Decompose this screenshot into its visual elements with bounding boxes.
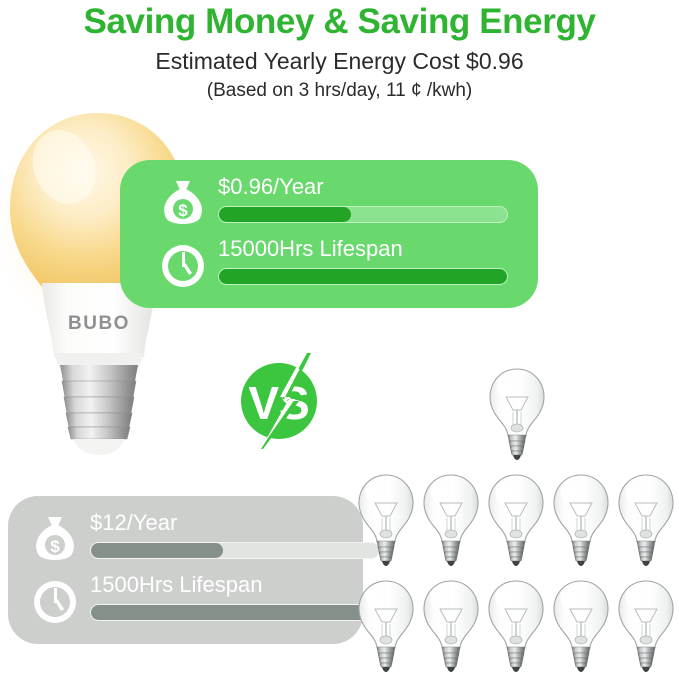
money-bag-icon: $	[30, 514, 80, 566]
infographic-canvas: Saving Money & Saving Energy Estimated Y…	[0, 0, 679, 679]
incandescent-bulb-icon	[421, 472, 481, 568]
incandescent-lifespan-label: 1500Hrs Lifespan	[90, 572, 262, 598]
incandescent-cost-metric: $ $12/Year	[30, 510, 392, 572]
led-lifespan-bar	[218, 268, 508, 285]
led-cost-bar-fill	[219, 207, 351, 222]
incandescent-bulb-icon	[616, 578, 676, 674]
svg-text:$: $	[50, 537, 60, 556]
incandescent-bulb-icon	[421, 578, 481, 674]
incandescent-bulb-icon	[487, 366, 547, 462]
incandescent-cost-label: $12/Year	[90, 510, 177, 536]
incandescent-bulb-icon	[551, 578, 611, 674]
incandescent-lifespan-bar-fill	[91, 605, 379, 620]
led-cost-bar	[218, 206, 508, 223]
incandescent-bulb-icon	[616, 472, 676, 568]
svg-text:$: $	[178, 201, 188, 220]
vs-badge: VS	[233, 353, 329, 449]
incandescent-lifespan-bar	[90, 604, 380, 621]
incandescent-bulb-icon	[356, 578, 416, 674]
led-lifespan-bar-fill	[219, 269, 507, 284]
money-bag-icon: $	[158, 178, 208, 230]
led-cost-metric: $ $0.96/Year	[158, 174, 520, 236]
subtitle-energy-cost: Estimated Yearly Energy Cost $0.96	[0, 48, 679, 75]
led-lifespan-metric: 15000Hrs Lifespan	[158, 236, 520, 298]
led-cost-label: $0.96/Year	[218, 174, 324, 200]
incandescent-bulb-icon	[356, 472, 416, 568]
incandescent-cost-bar-fill	[91, 543, 223, 558]
incandescent-bulb-icon	[551, 472, 611, 568]
led-benefits-panel: $ $0.96/Year 15000Hrs Lifespan	[120, 160, 538, 308]
led-lifespan-label: 15000Hrs Lifespan	[218, 236, 403, 262]
incandescent-bulb-icon	[486, 472, 546, 568]
incandescent-bulb-icon	[486, 578, 546, 674]
incandescent-cost-bar	[90, 542, 380, 559]
incandescent-lifespan-metric: 1500Hrs Lifespan	[30, 572, 392, 634]
bulb-brand-label: BUBO	[68, 313, 130, 334]
subtitle-basis-note: (Based on 3 hrs/day, 11 ¢ /kwh)	[0, 80, 679, 102]
incandescent-costs-panel: $ $12/Year 1500Hrs Lifespan	[8, 496, 363, 644]
clock-icon	[158, 240, 208, 292]
page-title: Saving Money & Saving Energy	[0, 2, 679, 42]
clock-icon	[30, 576, 80, 628]
